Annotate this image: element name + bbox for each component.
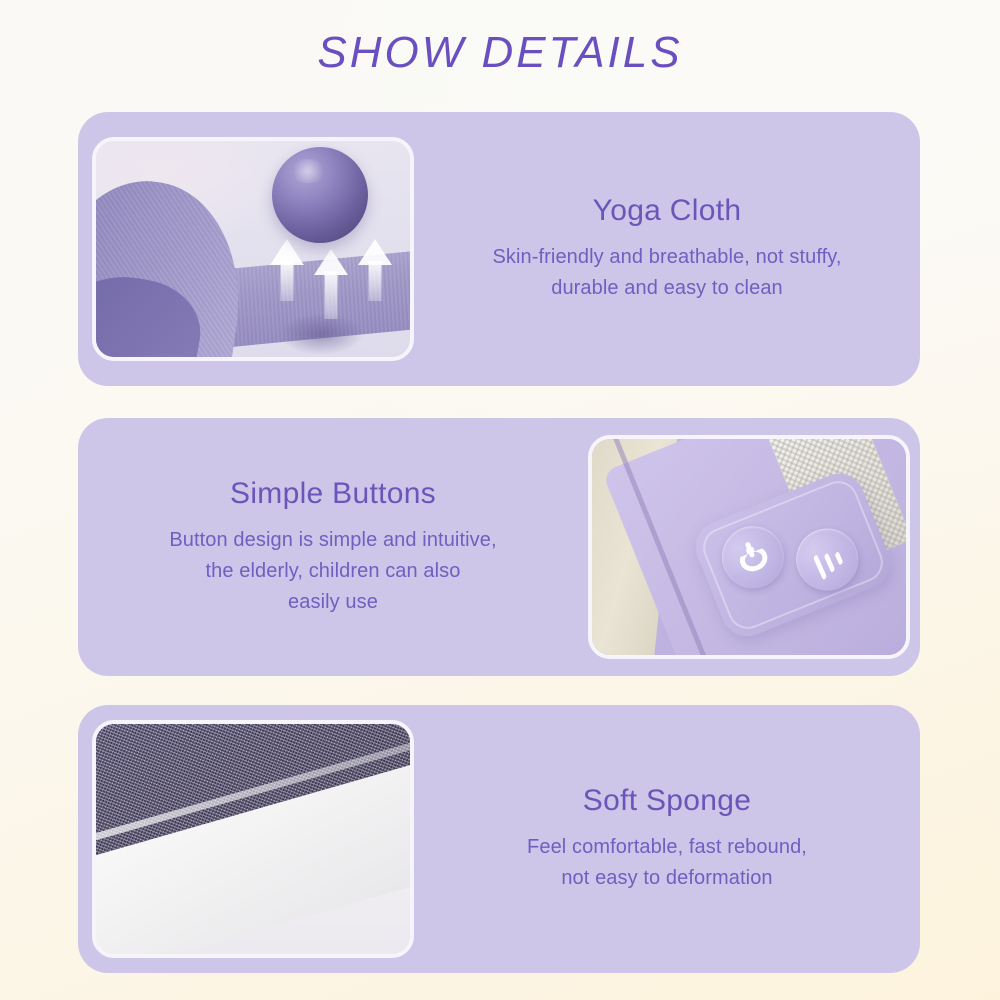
description-line: the elderly, children can also	[96, 556, 570, 587]
breathability-illustration	[96, 141, 410, 357]
description-line: easily use	[96, 587, 570, 618]
description-line: Feel comfortable, fast rebound,	[432, 832, 902, 863]
feature-text-yoga-cloth: Yoga Cloth Skin-friendly and breathable,…	[414, 194, 920, 304]
mode-button[interactable]	[787, 519, 868, 600]
description-line: not easy to deformation	[432, 863, 902, 894]
airflow-arrow-icon	[358, 239, 392, 301]
purple-ball-icon	[272, 147, 368, 243]
feature-headline: Simple Buttons	[96, 477, 570, 511]
vibration-mode-icon	[807, 540, 847, 579]
power-icon	[735, 539, 771, 575]
feature-image-simple-buttons	[588, 435, 910, 659]
feature-headline: Soft Sponge	[432, 784, 902, 818]
power-button[interactable]	[713, 517, 794, 598]
description-line: Button design is simple and intuitive,	[96, 525, 570, 556]
feature-text-simple-buttons: Simple Buttons Button design is simple a…	[78, 477, 588, 618]
feature-description: Button design is simple and intuitive, t…	[96, 525, 570, 618]
feature-image-yoga-cloth	[92, 137, 414, 361]
feature-image-soft-sponge	[92, 720, 414, 958]
sponge-layers-photo	[96, 724, 410, 954]
page-title: SHOW DETAILS	[0, 28, 1000, 78]
feature-card-simple-buttons[interactable]: Simple Buttons Button design is simple a…	[78, 418, 920, 676]
feature-description: Skin-friendly and breathable, not stuffy…	[432, 242, 902, 304]
feature-description: Feel comfortable, fast rebound, not easy…	[432, 832, 902, 894]
airflow-arrow-icon	[314, 249, 348, 319]
control-panel-photo	[592, 439, 906, 655]
ball-shadow	[278, 313, 364, 355]
product-detail-page: SHOW DETAILS	[0, 0, 1000, 1000]
feature-card-soft-sponge[interactable]: Soft Sponge Feel comfortable, fast rebou…	[78, 705, 920, 973]
feature-headline: Yoga Cloth	[432, 194, 902, 228]
feature-text-soft-sponge: Soft Sponge Feel comfortable, fast rebou…	[414, 784, 920, 894]
airflow-arrow-icon	[270, 239, 304, 301]
description-line: durable and easy to clean	[432, 273, 902, 304]
feature-card-yoga-cloth[interactable]: Yoga Cloth Skin-friendly and breathable,…	[78, 112, 920, 386]
description-line: Skin-friendly and breathable, not stuffy…	[432, 242, 902, 273]
